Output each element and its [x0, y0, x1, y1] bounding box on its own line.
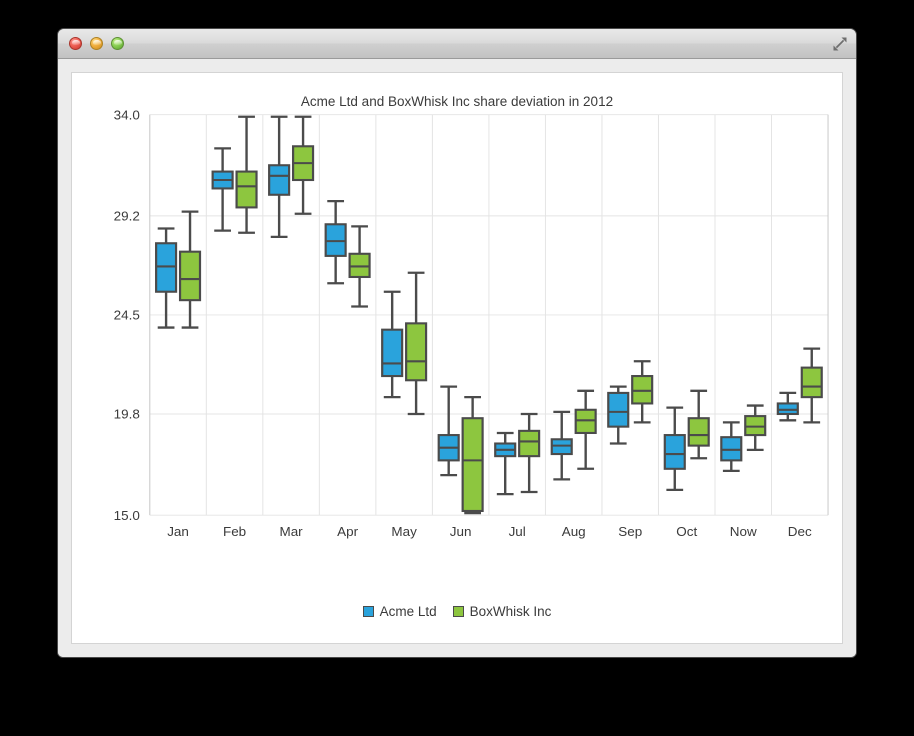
chart-legend: Acme LtdBoxWhisk Inc: [72, 604, 842, 619]
y-tick-label: 34.0: [114, 108, 140, 123]
legend-label: BoxWhisk Inc: [470, 604, 552, 619]
minimize-button[interactable]: [90, 37, 103, 50]
chart-card: Acme Ltd and BoxWhisk Inc share deviatio…: [71, 72, 843, 644]
box-plot-item[interactable]: [463, 397, 483, 513]
box-plot-item[interactable]: [406, 273, 426, 414]
x-tick-label: Jul: [509, 524, 526, 539]
box-plot-item[interactable]: [802, 349, 822, 423]
box-plot-item[interactable]: [213, 148, 233, 230]
x-tick-label: Feb: [223, 524, 246, 539]
x-tick-label: Jun: [450, 524, 472, 539]
legend-label: Acme Ltd: [380, 604, 437, 619]
box-plot-item[interactable]: [293, 117, 313, 214]
box-plot-item[interactable]: [665, 408, 685, 490]
close-button[interactable]: [69, 37, 82, 50]
y-tick-label: 29.2: [114, 209, 140, 224]
box-plot-item[interactable]: [439, 387, 459, 476]
boxplot-svg: 15.019.824.529.234.0 JanFebMarAprMayJunJ…: [72, 73, 842, 643]
box-plot-item[interactable]: [778, 393, 798, 420]
x-tick-label: Apr: [337, 524, 359, 539]
window-titlebar[interactable]: [58, 29, 856, 59]
x-tick-label: Oct: [676, 524, 697, 539]
box-plot-item[interactable]: [689, 391, 709, 458]
y-tick-label: 19.8: [114, 407, 140, 422]
box-plot-item[interactable]: [237, 117, 257, 233]
box-plot-item[interactable]: [552, 412, 572, 479]
x-tick-label: Now: [730, 524, 757, 539]
legend-item[interactable]: BoxWhisk Inc: [453, 604, 552, 619]
y-tick-label: 15.0: [114, 508, 140, 523]
box-plot-item[interactable]: [632, 361, 652, 422]
box-plot-item[interactable]: [519, 414, 539, 492]
x-axis-tick-labels: JanFebMarAprMayJunJulAugSepOctNowDec: [167, 524, 812, 539]
x-tick-label: Jan: [167, 524, 189, 539]
window-content: Acme Ltd and BoxWhisk Inc share deviatio…: [58, 59, 856, 657]
y-axis-tick-labels: 15.019.824.529.234.0: [114, 108, 140, 523]
box-plot-item[interactable]: [495, 433, 515, 494]
app-window: Acme Ltd and BoxWhisk Inc share deviatio…: [57, 28, 857, 658]
box-plot-item[interactable]: [382, 292, 402, 397]
maximize-button[interactable]: [111, 37, 124, 50]
x-tick-label: Aug: [562, 524, 586, 539]
legend-swatch-icon: [453, 606, 464, 617]
x-tick-label: Mar: [280, 524, 304, 539]
y-tick-label: 24.5: [114, 308, 140, 323]
x-tick-label: Sep: [618, 524, 642, 539]
fullscreen-icon[interactable]: [831, 35, 849, 53]
plot-area: 15.019.824.529.234.0 JanFebMarAprMayJunJ…: [72, 73, 842, 643]
box-plot-item[interactable]: [180, 212, 200, 328]
box-plot-item[interactable]: [745, 406, 765, 450]
box-plot-item[interactable]: [608, 387, 628, 444]
x-tick-label: May: [391, 524, 417, 539]
x-tick-label: Dec: [788, 524, 812, 539]
box-plot-item[interactable]: [156, 228, 176, 327]
box-plot-item[interactable]: [350, 226, 370, 306]
legend-item[interactable]: Acme Ltd: [363, 604, 437, 619]
box-plot-item[interactable]: [721, 422, 741, 470]
legend-swatch-icon: [363, 606, 374, 617]
box-plot-item[interactable]: [576, 391, 596, 469]
box-plot-item[interactable]: [269, 117, 289, 237]
box-plot-item[interactable]: [326, 201, 346, 283]
